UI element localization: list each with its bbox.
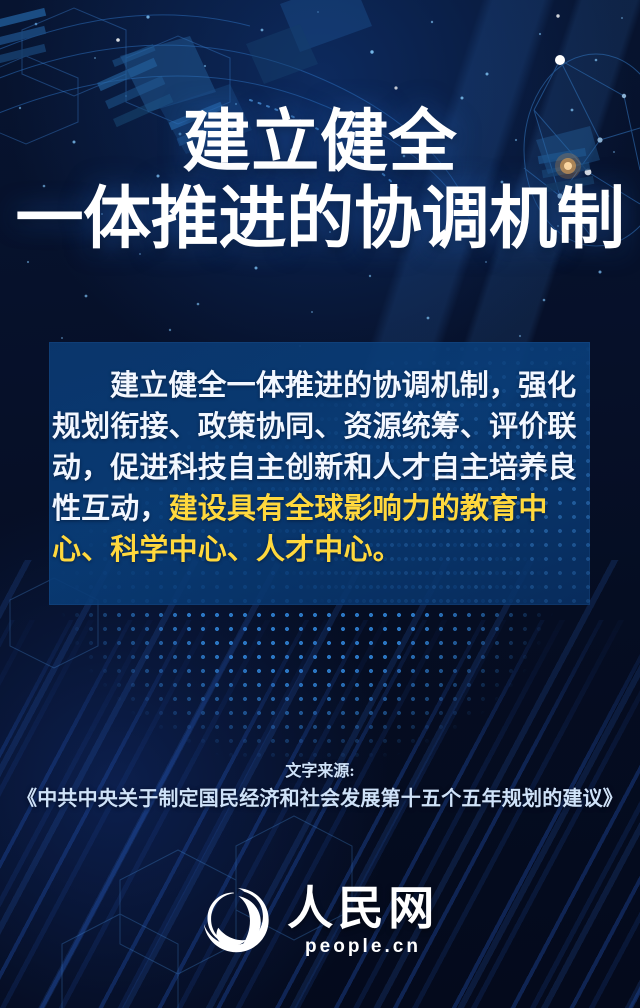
page-title: 建立健全 一体推进的协调机制: [0, 104, 640, 258]
logo-wordmark: 人民网 people.cn: [287, 884, 439, 959]
poster-root: 建立健全 一体推进的协调机制 建立健全一体推进的协调机制，强化规划衔接、政策协同…: [0, 0, 640, 1008]
source-document-title: 《中共中央关于制定国民经济和社会发展第十五个五年规划的建议》: [0, 784, 640, 814]
title-line-1: 建立健全: [0, 104, 640, 180]
people-cn-logo: 人民网 people.cn: [0, 884, 640, 959]
title-line-2: 一体推进的协调机制: [0, 180, 640, 258]
logo-domain: people.cn: [305, 935, 421, 959]
body-paragraph: 建立健全一体推进的协调机制，强化规划衔接、政策协同、资源统筹、评价联动，促进科技…: [52, 366, 588, 571]
source-label: 文字来源:: [0, 760, 640, 784]
source-attribution: 文字来源: 《中共中央关于制定国民经济和社会发展第十五个五年规划的建议》: [0, 760, 640, 814]
logo-chinese-name: 人民网: [287, 884, 439, 934]
people-globe-icon: [201, 886, 273, 958]
